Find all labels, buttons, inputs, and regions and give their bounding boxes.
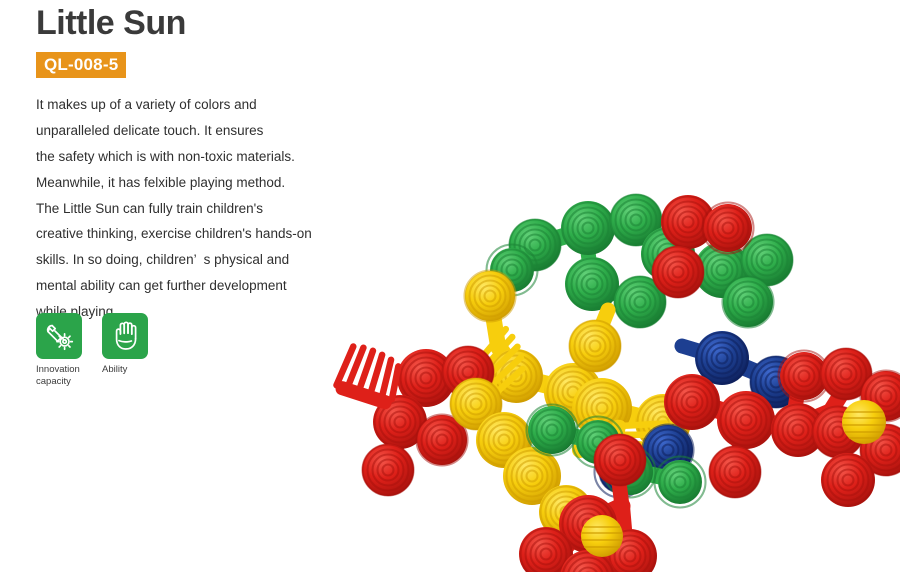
feature-item-ability: Ability <box>102 313 154 388</box>
feature-badge-list: Innovation capacity Ability <box>36 313 154 388</box>
toy-pieces <box>334 194 900 572</box>
hand-palm-icon <box>110 320 140 352</box>
comb-piece-red <box>334 343 405 410</box>
wrench-gear-icon <box>43 320 75 352</box>
description-line: unparalleled delicate touch. It ensures <box>36 118 396 144</box>
piece-group-red-flower <box>812 348 900 507</box>
page-title: Little Sun <box>36 0 396 42</box>
product-photo <box>330 150 900 572</box>
model-code-badge: QL-008-5 <box>36 52 126 78</box>
toy-illustration <box>330 150 900 572</box>
feature-tile <box>102 313 148 359</box>
feature-tile <box>36 313 82 359</box>
feature-label: Innovation capacity <box>36 364 88 388</box>
feature-item-innovation-capacity: Innovation capacity <box>36 313 88 388</box>
feature-label: Ability <box>102 364 154 376</box>
description-line: It makes up of a variety of colors and <box>36 92 396 118</box>
